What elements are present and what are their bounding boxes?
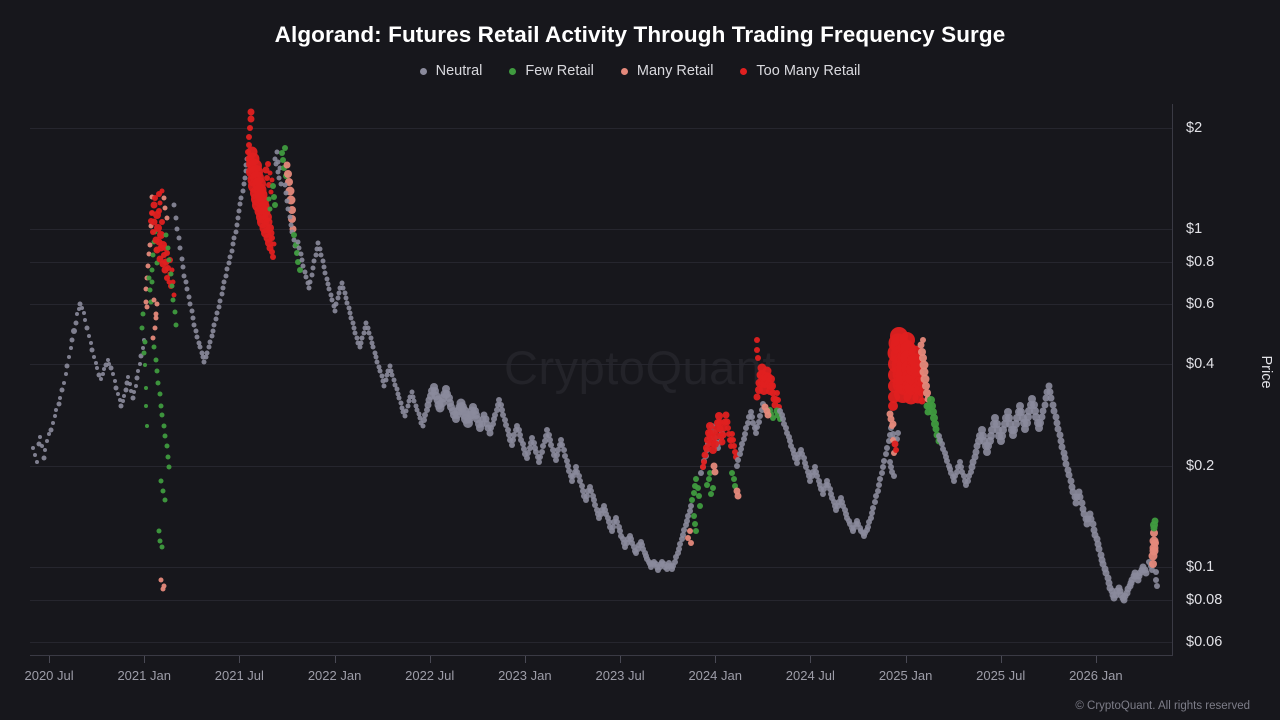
data-point [236, 216, 241, 221]
data-point [232, 235, 237, 240]
data-point [317, 246, 322, 251]
data-point [743, 425, 749, 431]
plot-area [30, 104, 1172, 655]
data-point [775, 397, 781, 403]
data-point [524, 455, 530, 461]
data-point [219, 292, 224, 297]
data-point [525, 450, 531, 456]
data-point [332, 308, 337, 313]
data-point [130, 395, 135, 400]
data-point [35, 460, 39, 464]
data-point [754, 393, 761, 400]
data-point [163, 433, 168, 438]
data-point [101, 372, 105, 376]
data-point [708, 491, 714, 497]
data-point [306, 286, 311, 291]
data-point [1150, 546, 1159, 555]
data-point [382, 383, 387, 388]
data-point [226, 261, 231, 266]
data-point [189, 309, 194, 314]
data-point [188, 302, 193, 307]
legend-swatch-icon [509, 68, 516, 75]
data-point [143, 363, 147, 367]
data-point [65, 363, 70, 368]
data-point [688, 503, 694, 509]
data-point [152, 325, 157, 330]
data-point [729, 470, 735, 476]
data-point [883, 451, 889, 457]
y-axis-line [1172, 104, 1173, 656]
data-point [723, 418, 730, 425]
data-point [237, 209, 242, 214]
data-point [1149, 560, 1157, 568]
legend-label: Few Retail [525, 63, 594, 79]
data-point [295, 239, 300, 244]
data-point [136, 369, 140, 373]
data-point [58, 396, 62, 400]
data-point [312, 259, 317, 264]
data-point [383, 378, 388, 383]
data-point [234, 223, 239, 228]
data-point [755, 355, 761, 361]
data-point [347, 311, 352, 316]
data-point [144, 386, 148, 390]
data-point [181, 264, 186, 269]
y-tick-label: $0.2 [1186, 458, 1214, 474]
data-point [310, 265, 315, 270]
y-tick-label: $0.1 [1186, 559, 1214, 575]
data-point [320, 259, 325, 264]
y-tick-label: $0.08 [1186, 592, 1222, 608]
data-point [122, 394, 126, 398]
data-point [121, 399, 125, 403]
data-point [109, 366, 114, 371]
data-point [157, 529, 162, 534]
data-point [80, 306, 84, 310]
data-point [687, 528, 693, 534]
data-point [164, 250, 170, 256]
data-point [730, 437, 736, 443]
data-point [868, 515, 874, 521]
x-tick-label: 2021 Jul [215, 668, 264, 683]
data-point [157, 392, 162, 397]
data-point [339, 280, 344, 285]
data-point [149, 279, 154, 284]
data-point [167, 465, 172, 470]
data-point [289, 223, 294, 228]
data-point [67, 355, 71, 359]
data-point [154, 369, 159, 374]
data-point [123, 387, 128, 392]
data-point [151, 335, 156, 340]
data-point [870, 505, 876, 511]
data-point [158, 200, 163, 205]
data-point [132, 390, 136, 394]
data-point [326, 281, 331, 286]
data-point [920, 337, 926, 343]
x-tick-mark [620, 656, 621, 663]
data-point [92, 355, 96, 359]
data-point [172, 309, 177, 314]
data-point [164, 233, 169, 238]
data-point [156, 381, 161, 386]
data-point [159, 404, 164, 409]
data-point [287, 214, 292, 219]
data-point [284, 170, 292, 178]
x-tick-mark [525, 656, 526, 663]
data-point [43, 448, 47, 452]
data-point [202, 360, 207, 365]
data-point [145, 304, 150, 309]
data-point [334, 302, 339, 307]
x-tick-label: 2020 Jul [24, 668, 73, 683]
y-tick-label: $2 [1186, 120, 1202, 136]
data-point [684, 518, 690, 524]
data-point [360, 335, 365, 340]
data-point [893, 447, 899, 453]
x-tick-mark [810, 656, 811, 663]
data-point [302, 269, 307, 274]
data-point [286, 206, 291, 211]
data-point [119, 404, 124, 409]
data-point [95, 366, 99, 370]
data-point [271, 242, 276, 247]
data-point [711, 440, 719, 448]
data-point [193, 329, 198, 334]
x-tick-mark [335, 656, 336, 663]
legend-item-few-retail[interactable]: Few Retail [509, 63, 594, 79]
x-tick-label: 2023 Jul [595, 668, 644, 683]
x-tick-mark [49, 656, 50, 663]
data-point [142, 339, 147, 344]
data-point [141, 351, 146, 356]
data-point [402, 414, 407, 419]
x-tick-label: 2021 Jan [117, 668, 171, 683]
data-point [696, 493, 702, 499]
data-point [384, 373, 389, 378]
x-tick-mark [906, 656, 907, 663]
chart-root: CryptoQuant Algorand: Futures Retail Act… [0, 0, 1280, 720]
data-point [154, 316, 159, 321]
data-point [693, 528, 699, 534]
data-point [731, 476, 737, 482]
data-point [150, 267, 155, 272]
legend-label: Many Retail [637, 63, 714, 79]
data-point [876, 482, 882, 488]
legend-swatch-icon [420, 68, 427, 75]
data-point [231, 242, 236, 247]
data-point [676, 546, 682, 552]
data-point [75, 312, 79, 316]
data-point [238, 202, 243, 207]
data-point [756, 419, 762, 425]
data-point [1041, 401, 1048, 408]
data-point [889, 423, 895, 429]
data-point [90, 347, 95, 352]
data-point [156, 208, 162, 214]
data-point [222, 279, 227, 284]
data-point [272, 202, 278, 208]
data-point [323, 270, 328, 275]
legend-label: Too Many Retail [756, 63, 860, 79]
data-point [158, 538, 163, 543]
data-point [335, 296, 340, 301]
data-point [688, 540, 694, 546]
data-point [216, 304, 221, 309]
data-point [159, 577, 164, 582]
y-tick-label: $0.06 [1186, 634, 1222, 650]
data-point [247, 116, 254, 123]
data-point [492, 412, 498, 418]
data-point [420, 423, 425, 428]
data-point [719, 438, 726, 445]
data-point [873, 493, 879, 499]
data-point [172, 203, 177, 208]
data-point [183, 279, 188, 284]
data-point [138, 362, 142, 366]
data-point [162, 195, 167, 200]
copyright-footer: © CryptoQuant. All rights reserved [1075, 700, 1250, 712]
data-point [175, 227, 180, 232]
x-tick-mark [144, 656, 145, 663]
data-point [128, 382, 132, 386]
data-point [48, 427, 53, 432]
data-point [265, 161, 271, 167]
chart-legend: NeutralFew RetailMany RetailToo Many Ret… [0, 63, 1280, 79]
data-point [248, 108, 255, 115]
data-point [73, 320, 78, 325]
data-point [167, 258, 172, 263]
data-point [895, 430, 901, 436]
data-point [271, 194, 277, 200]
data-point [754, 337, 760, 343]
data-point [291, 232, 297, 238]
x-tick-label: 2025 Jan [879, 668, 933, 683]
data-point [162, 584, 167, 589]
data-point [297, 246, 302, 251]
data-point [1038, 413, 1045, 420]
data-point [160, 413, 165, 418]
data-point [891, 473, 897, 479]
data-point [283, 191, 288, 196]
data-point [1154, 583, 1160, 589]
data-point [170, 283, 175, 288]
data-point [693, 476, 699, 482]
y-tick-label: $0.8 [1186, 254, 1214, 270]
data-point [327, 287, 332, 292]
x-tick-mark [715, 656, 716, 663]
data-point [205, 350, 210, 355]
data-point [738, 446, 744, 452]
legend-swatch-icon [740, 68, 747, 75]
data-point [279, 150, 285, 156]
data-point [185, 287, 190, 292]
data-point [141, 312, 146, 317]
data-point [405, 404, 410, 409]
data-point [700, 464, 706, 470]
data-point [203, 355, 208, 360]
data-point [195, 335, 200, 340]
x-tick-mark [1001, 656, 1002, 663]
data-point [282, 183, 287, 188]
data-point [406, 399, 411, 404]
data-point [182, 273, 187, 278]
data-point [160, 544, 165, 549]
data-point [62, 381, 66, 385]
data-point [241, 182, 246, 187]
data-point [210, 329, 215, 334]
data-point [309, 272, 314, 277]
data-point [225, 267, 230, 272]
data-point [160, 489, 165, 494]
data-point [537, 454, 543, 460]
data-point [421, 417, 427, 423]
data-point [710, 485, 716, 491]
data-point [87, 334, 91, 338]
x-tick-mark [430, 656, 431, 663]
data-point [176, 236, 181, 241]
x-tick-label: 2022 Jul [405, 668, 454, 683]
data-point [884, 445, 890, 451]
data-point [220, 286, 225, 291]
x-tick-mark [1096, 656, 1097, 663]
x-tick-mark [239, 656, 240, 663]
data-point [135, 376, 140, 381]
data-point [284, 199, 289, 204]
data-point [879, 470, 885, 476]
data-point [113, 379, 117, 383]
data-point [134, 384, 138, 388]
data-point [875, 488, 881, 494]
data-point [706, 476, 712, 482]
data-point [173, 216, 178, 221]
data-point [246, 134, 252, 140]
data-point [70, 338, 75, 343]
data-point [269, 178, 274, 183]
data-point [737, 451, 743, 457]
data-point [300, 258, 305, 263]
data-point [218, 298, 223, 303]
data-point [151, 252, 156, 257]
data-point [734, 463, 740, 469]
data-point [371, 345, 376, 350]
data-point [208, 339, 213, 344]
data-point [165, 246, 170, 251]
x-tick-label: 2024 Jan [688, 668, 742, 683]
data-point [892, 440, 899, 447]
data-point [159, 479, 164, 484]
data-point [247, 125, 253, 131]
data-point [140, 326, 145, 331]
data-point [283, 162, 290, 169]
scatter-layer [30, 104, 1172, 655]
data-point [33, 453, 37, 457]
legend-item-neutral[interactable]: Neutral [420, 63, 483, 79]
legend-swatch-icon [621, 68, 628, 75]
data-point [186, 294, 191, 299]
data-point [697, 503, 703, 509]
data-point [754, 347, 760, 353]
page-title: Algorand: Futures Retail Activity Throug… [0, 22, 1280, 48]
data-point [774, 390, 780, 396]
data-point [357, 345, 362, 350]
data-point [316, 241, 321, 246]
data-point [147, 288, 152, 293]
legend-item-too-many-retail[interactable]: Too Many Retail [740, 63, 860, 79]
data-point [82, 311, 86, 315]
data-point [422, 412, 428, 418]
data-point [114, 385, 119, 390]
data-point [215, 311, 220, 316]
data-point [270, 183, 276, 189]
data-point [168, 271, 173, 276]
data-point [308, 279, 313, 284]
data-point [298, 252, 303, 257]
data-point [1153, 569, 1159, 575]
data-point [539, 449, 545, 455]
data-point [192, 323, 197, 328]
legend-item-many-retail[interactable]: Many Retail [621, 63, 714, 79]
data-point [1150, 524, 1157, 531]
data-point [754, 424, 760, 430]
data-point [161, 423, 166, 428]
data-point [53, 414, 57, 418]
data-point [1151, 539, 1159, 547]
data-point [141, 346, 145, 350]
x-tick-label: 2025 Jul [976, 668, 1025, 683]
data-point [191, 316, 196, 321]
data-point [69, 346, 73, 350]
data-point [689, 497, 695, 503]
x-tick-label: 2024 Jul [786, 668, 835, 683]
data-point [228, 254, 233, 259]
data-point [152, 344, 157, 349]
data-point [765, 411, 772, 418]
data-point [282, 145, 288, 151]
data-point [171, 297, 176, 302]
data-point [268, 170, 273, 175]
legend-label: Neutral [436, 63, 483, 79]
x-tick-label: 2026 Jan [1069, 668, 1123, 683]
data-point [116, 392, 120, 396]
data-point [1153, 577, 1159, 583]
data-point [270, 254, 276, 260]
data-point [277, 175, 282, 180]
data-point [159, 188, 164, 193]
data-point [877, 476, 883, 482]
data-point [165, 455, 170, 460]
data-point [313, 252, 318, 257]
data-point [695, 485, 701, 491]
data-point [872, 499, 878, 505]
x-tick-label: 2023 Jan [498, 668, 552, 683]
data-point [324, 276, 329, 281]
data-point [83, 318, 87, 322]
data-point [742, 431, 748, 437]
data-point [753, 430, 759, 436]
data-point [342, 291, 347, 296]
data-point [404, 409, 409, 414]
data-point [358, 340, 363, 345]
data-point [162, 498, 167, 503]
data-point [240, 188, 245, 193]
data-point [712, 468, 719, 475]
data-point [198, 345, 203, 350]
y-tick-label: $0.6 [1186, 296, 1214, 312]
data-point [229, 248, 234, 253]
data-point [159, 219, 165, 225]
data-point [31, 446, 35, 450]
